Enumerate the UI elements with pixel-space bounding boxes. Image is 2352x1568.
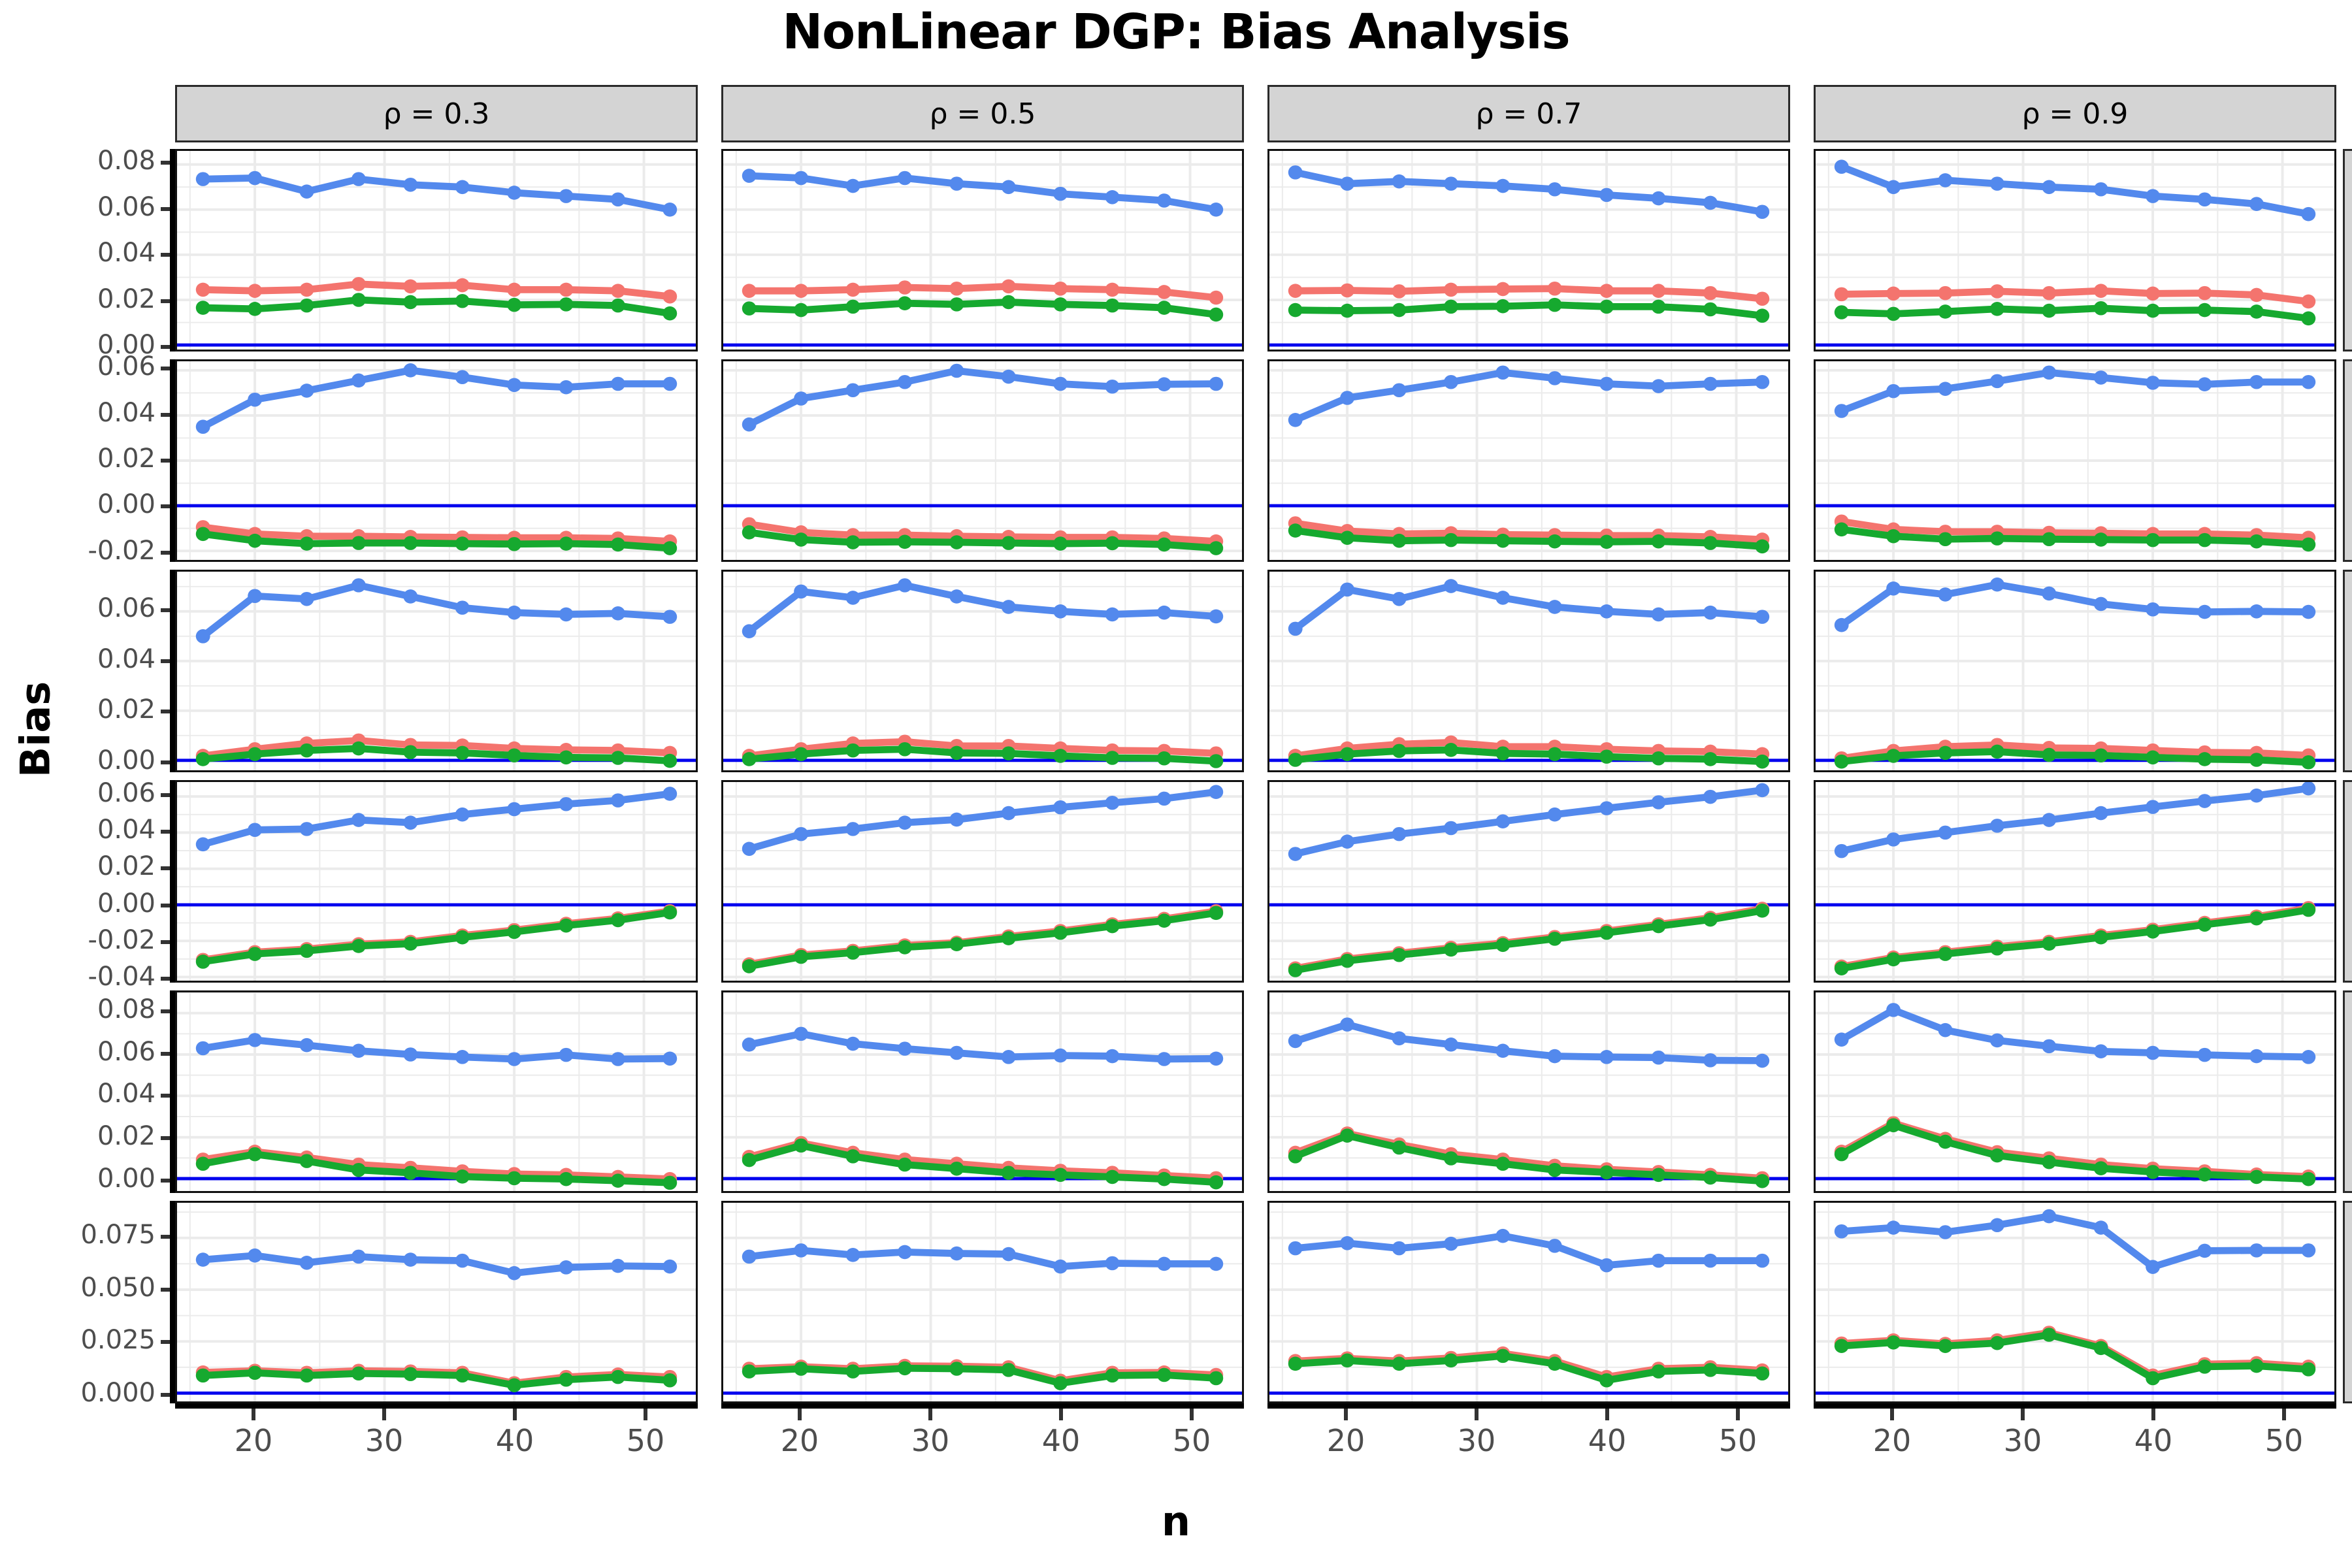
series-point-green [455,536,470,551]
series-point-blue [507,802,521,817]
series-point-green [898,535,912,549]
series-point-green [507,1379,521,1393]
series-point-blue [1990,578,2004,592]
series-point-blue [403,815,417,830]
series-point-blue [794,827,808,841]
facet-panel-m2-rho3 [1814,570,2336,772]
series-point-red [403,280,417,294]
series-point-blue [196,1041,210,1056]
series-line-blue [203,178,670,209]
series-point-blue [248,1033,262,1047]
facet-row-header-2: m = 6 [2343,570,2352,772]
series-point-blue [403,363,417,378]
series-point-blue [1053,1049,1068,1063]
series-point-green [1703,913,1718,927]
series-line-blue [749,792,1217,849]
series-point-blue [1157,606,1171,620]
facet-panel-m3-rho0 [175,780,698,983]
series-point-blue [1886,1220,1901,1235]
series-point-green [1392,534,1407,548]
series-point-red [2301,295,2315,309]
series-point-green [1288,1357,1303,1371]
series-point-blue [1599,188,1614,203]
series-point-blue [1053,377,1068,391]
series-point-green [2146,924,2160,939]
series-point-green [455,1369,470,1383]
series-point-green [846,1364,860,1379]
series-point-green [1209,308,1223,322]
series-point-red [1703,286,1718,301]
series-point-green [949,297,964,312]
series-point-green [1002,1363,1016,1377]
series-point-blue [1209,610,1223,624]
series-point-green [507,925,521,939]
series-point-blue [1755,204,1769,219]
series-point-green [2249,911,2264,926]
series-point-red [1652,284,1666,298]
series-point-blue [949,589,964,604]
series-point-blue [2301,207,2315,221]
series-point-blue [1886,581,1901,596]
series-point-green [1157,538,1171,552]
series-point-green [1444,1354,1458,1368]
series-point-blue [1105,1049,1120,1064]
series-point-blue [1599,801,1614,815]
facet-panel-m5-rho2 [1267,1201,1790,1403]
series-point-blue [2249,197,2264,211]
series-point-blue [2042,1209,2056,1224]
series-point-blue [2249,604,2264,619]
series-point-green [1105,919,1120,934]
series-point-blue [1288,413,1303,427]
series-point-red [662,289,677,304]
series-point-blue [794,1243,808,1258]
series-point-green [1652,534,1666,549]
series-point-green [1392,1357,1407,1371]
series-point-blue [196,419,210,434]
y-tick-label: 0.02 [25,444,155,474]
x-tick-mark [1605,1409,1609,1420]
series-point-red [2249,288,2264,302]
series-point-red [1392,284,1407,299]
y-axis-spine [170,1201,175,1403]
y-axis-spine [170,780,175,983]
series-point-blue [1835,1224,1849,1239]
series-point-green [2094,1341,2108,1356]
facet-panel-m3-rho3 [1814,780,2336,983]
series-point-green [300,1369,314,1383]
y-axis-spine [170,359,175,562]
series-point-blue [2146,602,2160,617]
series-point-blue [1340,391,1354,405]
series-point-red [742,284,757,298]
facet-panel-m1-rho1 [721,359,1244,562]
series-point-blue [2094,1220,2108,1235]
facet-panel-m2-rho1 [721,570,1244,772]
series-point-blue [1548,371,1562,385]
series-point-green [248,534,262,548]
series-point-green [662,1373,677,1388]
series-point-blue [559,189,574,203]
series-point-green [300,743,314,758]
series-point-red [949,282,964,296]
series-point-green [2146,1165,2160,1179]
series-point-blue [1444,1037,1458,1052]
series-point-red [1288,284,1303,298]
series-point-green [403,536,417,550]
series-point-green [611,1370,625,1384]
facet-col-header-1: ρ = 0.5 [721,85,1244,142]
series-point-green [351,1163,366,1177]
y-tick-label: 0.02 [25,851,155,881]
facet-panel-m2-rho2 [1267,570,1790,772]
series-point-green [1495,938,1510,952]
series-point-green [559,919,574,933]
series-point-green [794,950,808,964]
series-point-green [455,1169,470,1184]
series-point-green [248,302,262,316]
series-point-green [1835,523,1849,537]
series-point-blue [1835,844,1849,858]
series-point-blue [1703,1053,1718,1068]
facet-panel-m4-rho3 [1814,990,2336,1193]
series-point-blue [2146,800,2160,814]
x-tick-label: 40 [469,1423,561,1458]
series-point-green [2146,1371,2160,1386]
series-point-green [1053,297,1068,312]
series-point-green [2249,304,2264,319]
series-point-green [898,742,912,757]
series-point-blue [1002,1050,1016,1064]
x-tick-mark [644,1409,647,1420]
series-point-blue [2146,1046,2160,1060]
page-title: NonLinear DGP: Bias Analysis [0,4,2352,60]
series-point-green [300,536,314,551]
series-point-blue [1652,1051,1666,1065]
series-point-red [2146,287,2160,301]
series-point-green [611,913,625,928]
series-point-blue [455,1254,470,1268]
facet-row-header-1: m = 3 [2343,359,2352,562]
y-axis-spine [170,149,175,351]
series-point-blue [1599,1050,1614,1064]
series-point-green [2198,752,2212,766]
series-line-blue [1842,789,2309,851]
series-point-green [1340,747,1354,762]
series-point-blue [403,1252,417,1267]
series-point-green [2198,533,2212,547]
series-point-red [1495,282,1510,297]
series-point-green [1157,301,1171,315]
y-tick-label: 0.04 [25,644,155,674]
x-tick-mark [1344,1409,1348,1420]
y-tick-label: 0.04 [25,815,155,845]
series-point-blue [1703,1254,1718,1268]
y-tick-label: 0.02 [25,1121,155,1151]
y-axis-spine [170,570,175,772]
series-point-blue [403,589,417,604]
series-point-blue [2094,597,2108,612]
x-tick-label: 50 [1692,1423,1784,1458]
series-point-green [1835,1147,1849,1162]
series-point-blue [1990,1034,2004,1048]
series-point-blue [846,822,860,836]
series-point-blue [1053,1260,1068,1274]
y-tick-label: 0.00 [25,745,155,776]
series-line-blue [1296,790,1763,854]
series-point-green [559,297,574,312]
series-point-green [1105,1170,1120,1184]
series-point-red [196,283,210,297]
series-point-blue [2301,375,2315,389]
facet-col-label: ρ = 0.9 [2022,97,2129,131]
series-point-blue [1495,1229,1510,1243]
series-point-blue [1495,591,1510,605]
series-point-green [403,295,417,310]
x-tick-label: 50 [1146,1423,1237,1458]
series-point-green [1002,931,1016,945]
series-point-green [2042,748,2056,762]
facet-col-header-2: ρ = 0.7 [1267,85,1790,142]
y-tick-label: 0.08 [25,146,155,176]
series-point-blue [2198,605,2212,619]
series-line-red [1296,289,1763,299]
series-point-red [898,280,912,295]
series-point-blue [196,1252,210,1267]
y-tick-label: 0.04 [25,398,155,428]
x-tick-mark [1190,1409,1194,1420]
series-point-green [1990,1336,2004,1350]
y-tick-label: 0.050 [25,1273,155,1303]
series-point-green [949,1162,964,1176]
series-point-blue [507,378,521,392]
series-point-green [300,1154,314,1168]
series-point-blue [1835,618,1849,632]
series-point-green [403,1367,417,1381]
series-point-green [1340,1354,1354,1368]
series-point-blue [1002,180,1016,195]
series-point-blue [455,600,470,615]
series-point-blue [1209,1052,1223,1066]
series-point-blue [1002,1247,1016,1262]
series-point-blue [1755,1054,1769,1068]
series-point-green [1835,755,1849,769]
y-tick-label: 0.04 [25,238,155,268]
series-point-green [611,299,625,313]
series-point-red [1053,282,1068,296]
series-point-red [1209,291,1223,305]
series-line-green [203,913,670,962]
series-point-green [1652,919,1666,934]
x-tick-label: 30 [338,1423,430,1458]
series-point-blue [1703,790,1718,804]
series-point-blue [1340,1236,1354,1250]
series-point-green [351,1366,366,1380]
series-point-green [2249,534,2264,549]
series-point-blue [1652,795,1666,809]
series-point-blue [1288,847,1303,861]
series-point-blue [1548,1049,1562,1064]
series-point-green [351,939,366,953]
series-point-blue [1703,196,1718,210]
series-point-green [1209,1371,1223,1386]
series-point-blue [1495,179,1510,193]
series-point-green [949,1362,964,1376]
series-point-green [1209,541,1223,555]
series-point-green [1340,304,1354,318]
series-point-green [949,746,964,760]
series-line-blue [1296,586,1763,629]
series-point-green [1157,913,1171,928]
series-point-green [1392,303,1407,318]
y-tick-label: 0.075 [25,1220,155,1250]
series-point-blue [1755,610,1769,624]
series-point-blue [742,624,757,638]
series-point-green [248,1147,262,1162]
series-point-blue [559,1260,574,1275]
series-point-green [559,1172,574,1186]
series-point-blue [1105,1256,1120,1271]
series-point-blue [1288,622,1303,636]
series-point-green [1755,904,1769,918]
series-point-blue [507,606,521,620]
series-point-green [2042,1155,2056,1169]
series-point-blue [1209,377,1223,391]
series-line-blue [203,794,670,844]
series-point-green [1835,305,1849,319]
series-point-blue [300,1256,314,1270]
series-point-green [1288,303,1303,318]
series-line-green [203,1373,670,1385]
series-point-red [1755,291,1769,306]
series-point-blue [2198,1244,2212,1258]
series-point-blue [1990,374,2004,389]
series-point-blue [1209,785,1223,799]
series-point-blue [351,1250,366,1264]
y-tick-label: 0.04 [25,1079,155,1109]
series-point-blue [662,1260,677,1274]
series-point-green [1444,1151,1458,1166]
series-point-blue [248,823,262,837]
series-line-blue [1842,1217,2309,1267]
series-point-blue [1495,814,1510,828]
series-point-green [559,751,574,765]
series-point-green [1157,751,1171,766]
series-point-blue [300,592,314,606]
y-tick-label: 0.08 [25,994,155,1024]
series-point-green [1548,932,1562,946]
series-point-green [1288,963,1303,977]
series-point-blue [1548,808,1562,822]
series-point-blue [351,578,366,593]
facet-row-header-3: m = 12 [2343,780,2352,983]
series-point-green [1105,299,1120,313]
series-point-blue [949,176,964,191]
series-point-blue [507,1266,521,1281]
y-tick-label: 0.02 [25,694,155,725]
series-point-blue [351,374,366,388]
series-point-green [1755,540,1769,554]
series-point-green [662,906,677,920]
series-line-green [749,302,1217,314]
series-point-green [507,537,521,551]
series-line-blue [203,1040,670,1059]
series-point-blue [1886,832,1901,847]
series-point-blue [846,179,860,193]
x-tick-mark [2021,1409,2025,1420]
series-point-blue [1157,193,1171,208]
series-point-blue [1938,382,1953,396]
series-point-blue [1599,377,1614,391]
series-point-green [794,532,808,547]
series-point-blue [1938,1023,1953,1037]
series-point-green [742,752,757,766]
series-point-red [300,283,314,297]
series-point-blue [1652,191,1666,206]
series-point-green [1288,523,1303,538]
series-point-blue [2301,782,2315,795]
series-point-blue [742,1037,757,1052]
x-tick-label: 20 [208,1423,299,1458]
series-point-green [1444,943,1458,957]
series-point-green [455,294,470,308]
series-point-green [403,1166,417,1180]
x-tick-label: 50 [600,1423,691,1458]
series-point-green [300,299,314,313]
series-point-blue [1392,1241,1407,1256]
series-point-green [1495,299,1510,314]
series-point-green [1340,1128,1354,1143]
series-point-blue [2249,375,2264,389]
series-point-blue [2249,1243,2264,1258]
series-point-blue [1548,1239,1562,1253]
series-line-green [203,300,670,314]
facet-panel-m4-rho1 [721,990,1244,1193]
series-point-green [846,743,860,758]
series-point-blue [455,1050,470,1064]
y-tick-label: 0.025 [25,1325,155,1355]
series-point-green [1652,300,1666,314]
series-point-green [1157,1368,1171,1382]
series-point-green [1703,302,1718,317]
series-line-blue [1296,1236,1763,1266]
series-point-blue [2042,1039,2056,1054]
series-point-green [898,940,912,955]
x-axis-spine [1267,1403,1790,1409]
series-point-blue [1340,834,1354,849]
series-point-green [351,536,366,550]
series-point-blue [949,1046,964,1060]
series-point-blue [1599,1258,1614,1273]
series-point-green [248,747,262,762]
series-point-blue [2301,1050,2315,1064]
facet-panel-m0-rho1 [721,149,1244,351]
series-point-blue [1392,1032,1407,1046]
x-tick-mark [513,1409,517,1420]
series-point-blue [507,186,521,200]
series-point-blue [1755,1254,1769,1268]
series-point-green [1886,1335,1901,1350]
series-point-green [1288,1149,1303,1164]
series-point-green [248,1365,262,1380]
series-point-blue [949,813,964,827]
series-point-red [1340,284,1354,298]
x-tick-mark [2282,1409,2286,1420]
series-point-green [1002,746,1016,760]
series-point-green [1053,926,1068,940]
series-point-green [1755,1366,1769,1380]
series-point-green [1209,754,1223,768]
